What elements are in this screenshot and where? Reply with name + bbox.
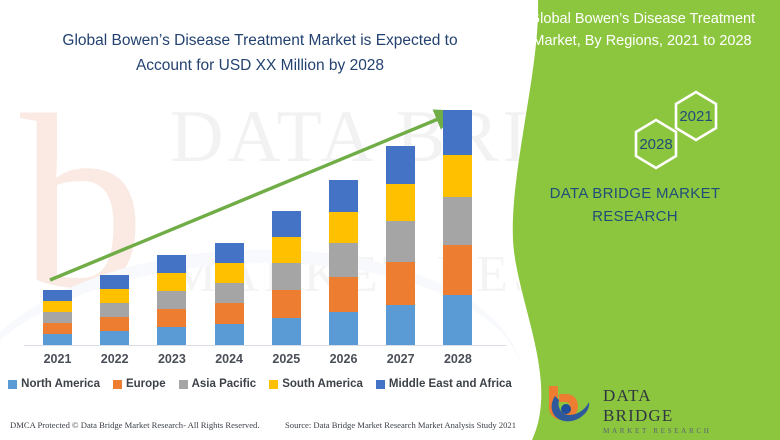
footer: DMCA Protected © Data Bridge Market Rese… [0, 418, 520, 438]
legend-swatch-icon [179, 380, 188, 389]
bar-segment [272, 237, 301, 263]
bar-segment [443, 155, 472, 197]
x-axis-label-2022: 2022 [87, 352, 143, 366]
panel-brand: DATA BRIDGE MARKET RESEARCH [510, 182, 760, 228]
bar-segment [443, 197, 472, 245]
logo-text: DATA BRIDGE MARKET RESEARCH [603, 386, 725, 435]
x-axis-label-2025: 2025 [258, 352, 314, 366]
bar-segment [272, 290, 301, 318]
bar-2022 [100, 275, 129, 345]
hexagon-2028-label: 2028 [636, 120, 676, 168]
legend-item-1[interactable]: Europe [113, 378, 166, 390]
legend-label: South America [282, 378, 363, 390]
bar-segment [215, 324, 244, 345]
bar-segment [157, 255, 186, 273]
bar-segment [43, 290, 72, 301]
bar-segment [329, 312, 358, 345]
bar-segment [329, 243, 358, 277]
legend-swatch-icon [376, 380, 385, 389]
bar-segment [43, 312, 72, 323]
legend-swatch-icon [113, 380, 122, 389]
hexagon-2021-label: 2021 [676, 92, 716, 140]
x-axis-label-2023: 2023 [144, 352, 200, 366]
bar-segment [386, 221, 415, 262]
legend-label: North America [21, 378, 100, 390]
bar-2026 [329, 180, 358, 345]
x-axis-label-2024: 2024 [201, 352, 257, 366]
bar-segment [272, 211, 301, 237]
logo-name: DATA BRIDGE [603, 386, 725, 426]
bar-segment [386, 262, 415, 305]
bar-2028 [443, 110, 472, 345]
bar-segment [215, 283, 244, 303]
bar-segment [443, 245, 472, 295]
bar-segment [215, 243, 244, 263]
footer-copyright: DMCA Protected © Data Bridge Market Rese… [10, 420, 260, 430]
regions-panel: Global Bowen’s Disease Treatment Market,… [490, 0, 780, 440]
bar-segment [329, 212, 358, 243]
hexagon-group: 2028 2021 [490, 86, 780, 186]
legend-swatch-icon [8, 380, 17, 389]
infographic-canvas: b DATA BRIDGE MARKET RESEARCH Global Bow… [0, 0, 780, 440]
legend-item-2[interactable]: Asia Pacific [179, 378, 257, 390]
bar-segment [43, 323, 72, 334]
bar-2025 [272, 211, 301, 345]
bar-segment [100, 331, 129, 345]
legend-label: Europe [126, 378, 166, 390]
bar-segment [157, 273, 186, 291]
panel-brand-line2: RESEARCH [510, 205, 760, 228]
legend-swatch-icon [269, 380, 278, 389]
legend-label: Middle East and Africa [389, 378, 512, 390]
bar-segment [443, 295, 472, 345]
panel-title: Global Bowen’s Disease Treatment Market,… [508, 8, 776, 52]
bar-segment [157, 309, 186, 327]
bar-segment [100, 275, 129, 289]
x-axis-label-2021: 2021 [30, 352, 86, 366]
chart-legend: North AmericaEuropeAsia PacificSouth Ame… [0, 374, 520, 394]
x-axis-labels: 20212022202320242025202620272028 [0, 352, 520, 372]
bar-2027 [386, 146, 415, 345]
footer-source: Source: Data Bridge Market Research Mark… [285, 420, 516, 430]
legend-label: Asia Pacific [192, 378, 257, 390]
bar-segment [386, 146, 415, 184]
bar-segment [157, 327, 186, 345]
bar-segment [272, 263, 301, 290]
bar-segment [43, 334, 72, 345]
x-axis-label-2027: 2027 [373, 352, 429, 366]
legend-item-0[interactable]: North America [8, 378, 100, 390]
bar-segment [43, 301, 72, 312]
bar-segment [386, 305, 415, 345]
bar-segment [272, 318, 301, 345]
x-axis-label-2028: 2028 [430, 352, 486, 366]
logo-mark-icon [545, 382, 601, 424]
logo-subtitle: MARKET RESEARCH [603, 427, 725, 435]
bar-segment [329, 277, 358, 312]
bar-segment [157, 291, 186, 309]
bar-segment [215, 303, 244, 324]
bar-segment [100, 303, 129, 317]
bar-segment [329, 180, 358, 212]
x-axis-label-2026: 2026 [316, 352, 372, 366]
bar-segment [443, 110, 472, 155]
bar-segment [215, 263, 244, 283]
panel-brand-line1: DATA BRIDGE MARKET [510, 182, 760, 205]
bar-segment [100, 289, 129, 303]
bar-2021 [43, 290, 72, 345]
bar-2023 [157, 255, 186, 345]
legend-item-4[interactable]: Middle East and Africa [376, 378, 512, 390]
bar-2024 [215, 243, 244, 345]
bar-segment [100, 317, 129, 331]
data-bridge-logo: DATA BRIDGE MARKET RESEARCH [545, 382, 725, 426]
bar-segment [386, 184, 415, 221]
legend-item-3[interactable]: South America [269, 378, 363, 390]
